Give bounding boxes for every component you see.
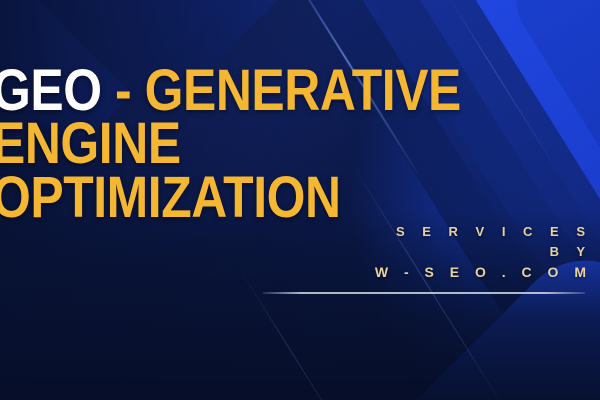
headline-line-3: OPTIMIZATION [0,171,474,224]
headline-line-2: ENGINE [0,117,474,170]
byline-services-label: S E R V I C E S [272,222,592,242]
promo-banner: GEO - GENERATIVE ENGINE OPTIMIZATION S E… [0,0,600,400]
horizontal-divider-rule [263,292,585,294]
byline-block: S E R V I C E S B Y W - S E O . C O M [272,222,592,284]
byline-by-label: B Y [272,242,592,262]
byline-website-url: W - S E O . C O M [272,262,592,284]
headline-block: GEO - GENERATIVE ENGINE OPTIMIZATION [0,64,552,224]
headline-line-1: GEO - GENERATIVE [0,64,474,117]
